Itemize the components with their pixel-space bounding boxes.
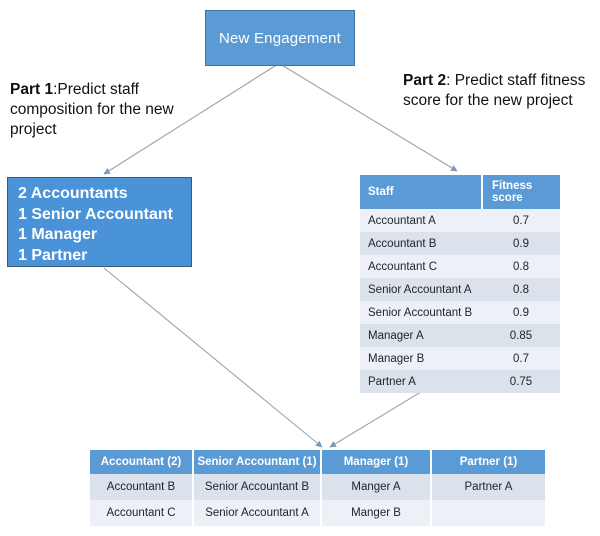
- cell-staff: Senior Accountant A: [360, 278, 482, 301]
- cell-staff: Manager B: [360, 347, 482, 370]
- cell-score: 0.9: [482, 232, 560, 255]
- table-row: Accountant B 0.9: [360, 232, 560, 255]
- cell-staff: Accountant B: [360, 232, 482, 255]
- cell-score: 0.8: [482, 278, 560, 301]
- cell-staff: Accountant A: [360, 209, 482, 232]
- cell-score: 0.9: [482, 301, 560, 324]
- annotation-part-1-lead: Part 1: [10, 81, 53, 98]
- cell-partner: Partner A: [432, 474, 545, 500]
- table-row: Accountant C 0.8: [360, 255, 560, 278]
- node-new-engagement[interactable]: New Engagement: [205, 10, 355, 66]
- staff-assignment-table: Accountant (2) Senior Accountant (1) Man…: [90, 450, 545, 526]
- composition-line: 1 Partner: [18, 246, 191, 267]
- cell-score: 0.8: [482, 255, 560, 278]
- annotation-part-1: Part 1:Predict staff composition for the…: [10, 80, 215, 140]
- table-row: Accountant C Senior Accountant A Manger …: [90, 500, 545, 526]
- diagram-canvas: New Engagement Part 1:Predict staff comp…: [0, 0, 600, 536]
- table-row: Senior Accountant A 0.8: [360, 278, 560, 301]
- table-header-row: Staff Fitness score: [360, 175, 560, 209]
- connector-composition-to-assignment: [104, 268, 322, 447]
- annotation-part-2-lead: Part 2: [403, 72, 446, 89]
- column-header-partner[interactable]: Partner (1): [432, 450, 545, 474]
- cell-staff: Accountant C: [360, 255, 482, 278]
- cell-manager: Manger A: [322, 474, 432, 500]
- composition-line: 1 Manager: [18, 225, 191, 246]
- cell-score: 0.85: [482, 324, 560, 347]
- table-row: Manager A 0.85: [360, 324, 560, 347]
- table-row: Senior Accountant B 0.9: [360, 301, 560, 324]
- cell-senior-accountant: Senior Accountant A: [194, 500, 322, 526]
- column-header-senior-accountant[interactable]: Senior Accountant (1): [194, 450, 322, 474]
- column-header-fitness-score[interactable]: Fitness score: [482, 175, 560, 209]
- cell-score: 0.7: [482, 347, 560, 370]
- cell-score: 0.7: [482, 209, 560, 232]
- column-header-manager[interactable]: Manager (1): [322, 450, 432, 474]
- staff-composition-box[interactable]: 2 Accountants 1 Senior Accountant 1 Mana…: [7, 177, 192, 267]
- cell-staff: Manager A: [360, 324, 482, 347]
- table-row: Partner A 0.75: [360, 370, 560, 393]
- table-row: Accountant A 0.7: [360, 209, 560, 232]
- connector-fitness-to-assignment: [330, 384, 434, 447]
- table-row: Manager B 0.7: [360, 347, 560, 370]
- cell-staff: Partner A: [360, 370, 482, 393]
- annotation-part-2: Part 2: Predict staff fitness score for …: [403, 71, 595, 111]
- table-header-row: Accountant (2) Senior Accountant (1) Man…: [90, 450, 545, 474]
- composition-line: 2 Accountants: [18, 184, 191, 205]
- cell-accountant: Accountant C: [90, 500, 194, 526]
- column-header-accountant[interactable]: Accountant (2): [90, 450, 194, 474]
- cell-accountant: Accountant B: [90, 474, 194, 500]
- cell-senior-accountant: Senior Accountant B: [194, 474, 322, 500]
- column-header-staff[interactable]: Staff: [360, 175, 482, 209]
- cell-partner: [432, 500, 545, 526]
- cell-staff: Senior Accountant B: [360, 301, 482, 324]
- table-row: Accountant B Senior Accountant B Manger …: [90, 474, 545, 500]
- fitness-score-table: Staff Fitness score Accountant A 0.7 Acc…: [360, 175, 560, 393]
- node-new-engagement-label: New Engagement: [219, 30, 341, 47]
- composition-line: 1 Senior Accountant: [18, 205, 191, 226]
- cell-score: 0.75: [482, 370, 560, 393]
- cell-manager: Manger B: [322, 500, 432, 526]
